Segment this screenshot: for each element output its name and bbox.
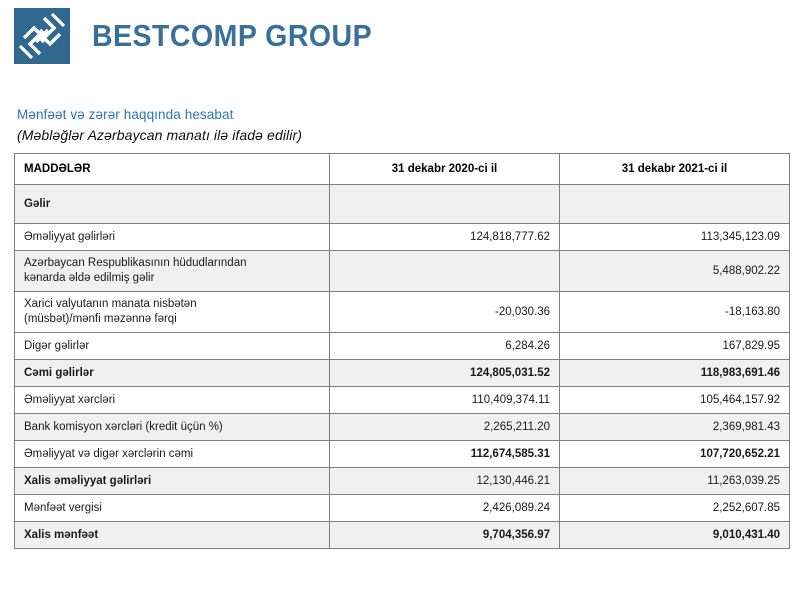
row-label: Xarici valyutanın manata nisbətən(müsbət… [15, 292, 330, 333]
row-label-line: Əməliyyat gəlirləri [24, 230, 320, 245]
table-header: MADDƏLƏR 31 dekabr 2020-ci il 31 dekabr … [15, 154, 790, 185]
row-label: Əməliyyat və digər xərclərin cəmi [15, 441, 330, 468]
page-subtitle: (Məbləğlər Azərbaycan manatı ilə ifadə e… [17, 126, 800, 145]
table-row: Xalis mənfəət9,704,356.979,010,431.40 [15, 522, 790, 549]
table-row: Cəmi gəlirlər124,805,031.52118,983,691.4… [15, 360, 790, 387]
table-header-row: MADDƏLƏR 31 dekabr 2020-ci il 31 dekabr … [15, 154, 790, 185]
table-row: Əməliyyat gəlirləri124,818,777.62113,345… [15, 224, 790, 251]
table-row: Azərbaycan Respublikasının hüdudlarından… [15, 251, 790, 292]
row-value-2020 [330, 251, 560, 292]
row-label-line: Xarici valyutanın manata nisbətən [24, 297, 320, 312]
row-label: Xalis mənfəət [15, 522, 330, 549]
table-row: Digər gəlirlər6,284.26167,829.95 [15, 333, 790, 360]
row-value-2021: 105,464,157.92 [560, 387, 790, 414]
column-header-2021: 31 dekabr 2021-ci il [560, 154, 790, 185]
row-label: Xalis əməliyyat gəlirləri [15, 468, 330, 495]
row-label-line: Xalis mənfəət [24, 528, 320, 543]
row-label-line: Gəlir [24, 197, 320, 212]
row-label-line: Bank komisyon xərcləri (kredit üçün %) [24, 420, 320, 435]
table-row: Mənfəət vergisi2,426,089.242,252,607.85 [15, 495, 790, 522]
financial-table-container: MADDƏLƏR 31 dekabr 2020-ci il 31 dekabr … [0, 145, 800, 549]
row-label: Gəlir [15, 185, 330, 224]
column-header-items: MADDƏLƏR [15, 154, 330, 185]
profit-loss-table: MADDƏLƏR 31 dekabr 2020-ci il 31 dekabr … [14, 153, 790, 549]
row-label-line: kənarda əldə edilmiş gəlir [24, 271, 320, 286]
row-label: Cəmi gəlirlər [15, 360, 330, 387]
row-value-2021: -18,163.80 [560, 292, 790, 333]
row-value-2021: 2,252,607.85 [560, 495, 790, 522]
row-value-2021: 9,010,431.40 [560, 522, 790, 549]
row-label: Əməliyyat xərcləri [15, 387, 330, 414]
row-value-2020: 110,409,374.11 [330, 387, 560, 414]
table-row: Gəlir [15, 185, 790, 224]
row-label-line: Cəmi gəlirlər [24, 366, 320, 381]
row-value-2021: 167,829.95 [560, 333, 790, 360]
row-label-line: Əməliyyat və digər xərclərin cəmi [24, 447, 320, 462]
row-value-2020: 124,818,777.62 [330, 224, 560, 251]
table-row: Bank komisyon xərcləri (kredit üçün %)2,… [15, 414, 790, 441]
table-row: Əməliyyat və digər xərclərin cəmi112,674… [15, 441, 790, 468]
row-value-2020: 2,426,089.24 [330, 495, 560, 522]
row-label-line: (müsbət)/mənfi məzənnə fərqi [24, 312, 320, 327]
row-label-line: Mənfəət vergisi [24, 501, 320, 516]
row-value-2021: 2,369,981.43 [560, 414, 790, 441]
row-value-2020: 124,805,031.52 [330, 360, 560, 387]
table-row: Xalis əməliyyat gəlirləri12,130,446.2111… [15, 468, 790, 495]
row-label-line: Xalis əməliyyat gəlirləri [24, 474, 320, 489]
table-row: Xarici valyutanın manata nisbətən(müsbət… [15, 292, 790, 333]
row-label: Əməliyyat gəlirləri [15, 224, 330, 251]
row-value-2021: 11,263,039.25 [560, 468, 790, 495]
page-title: Mənfəət və zərər haqqında hesabat [17, 106, 800, 124]
row-value-2020: 2,265,211.20 [330, 414, 560, 441]
report-heading-block: Mənfəət və zərər haqqında hesabat (Məblə… [0, 72, 800, 145]
brand-header: BESTCOMP GROUP [0, 0, 800, 72]
row-value-2021: 118,983,691.46 [560, 360, 790, 387]
row-value-2020: -20,030.36 [330, 292, 560, 333]
row-value-2020: 112,674,585.31 [330, 441, 560, 468]
table-body: GəlirƏməliyyat gəlirləri124,818,777.6211… [15, 185, 790, 549]
row-value-2021: 107,720,652.21 [560, 441, 790, 468]
row-label-line: Əməliyyat xərcləri [24, 393, 320, 408]
row-value-2021 [560, 185, 790, 224]
brand-wordmark: BESTCOMP GROUP [92, 18, 372, 54]
row-label: Bank komisyon xərcləri (kredit üçün %) [15, 414, 330, 441]
column-header-2020: 31 dekabr 2020-ci il [330, 154, 560, 185]
row-value-2021: 113,345,123.09 [560, 224, 790, 251]
row-label-line: Azərbaycan Respublikasının hüdudlarından [24, 256, 320, 271]
row-label: Digər gəlirlər [15, 333, 330, 360]
row-value-2020: 9,704,356.97 [330, 522, 560, 549]
row-label-line: Digər gəlirlər [24, 339, 320, 354]
interlocking-squares-logo-icon [14, 8, 70, 64]
row-label: Azərbaycan Respublikasının hüdudlarından… [15, 251, 330, 292]
row-value-2020: 12,130,446.21 [330, 468, 560, 495]
row-value-2020 [330, 185, 560, 224]
row-label: Mənfəət vergisi [15, 495, 330, 522]
table-row: Əməliyyat xərcləri110,409,374.11105,464,… [15, 387, 790, 414]
row-value-2020: 6,284.26 [330, 333, 560, 360]
row-value-2021: 5,488,902.22 [560, 251, 790, 292]
